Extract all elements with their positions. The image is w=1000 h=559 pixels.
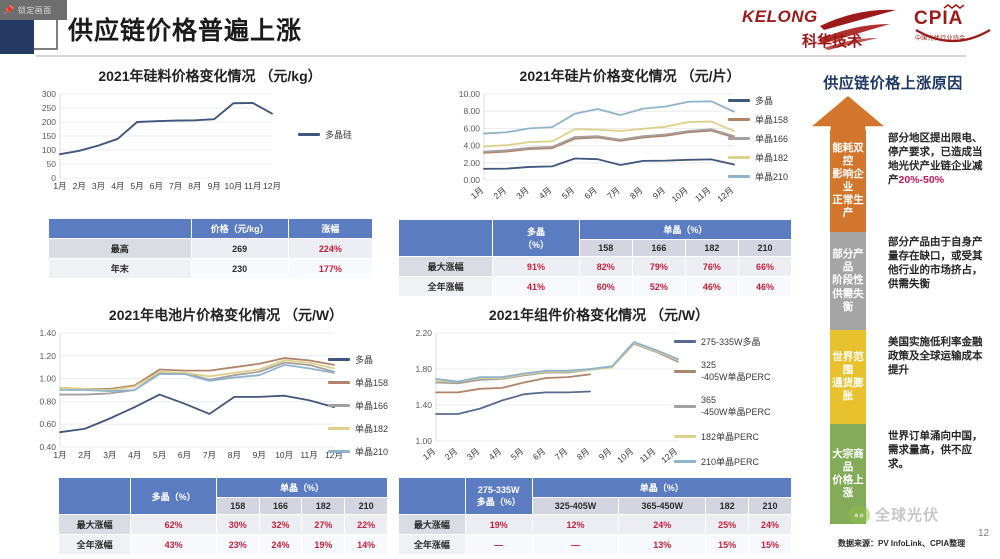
svg-text:1月: 1月: [53, 181, 66, 191]
svg-text:11月: 11月: [300, 450, 317, 460]
svg-text:200: 200: [42, 117, 56, 127]
table-row: 最高 269 224%: [49, 239, 373, 259]
legend-label: 单晶158: [355, 376, 388, 389]
row-price: 269: [191, 239, 288, 259]
sidebar-segment-3[interactable]: 世界范围通货膨胀: [830, 330, 866, 424]
legend-label: 210单晶PERC: [701, 455, 759, 468]
row-mono-158: 23%: [216, 535, 259, 555]
sidebar-description-text: 部分产品由于自身产量存在缺口，或受其他行业的市场挤占，供需失衡: [888, 236, 983, 290]
sidebar-description-text: 美国实施低利率金融政策及全球运输成本提升: [888, 336, 983, 376]
svg-text:2月: 2月: [491, 185, 508, 201]
row-mono-166: 24%: [259, 535, 302, 555]
table-row: 全年涨幅 41% 60% 52% 46% 46%: [399, 277, 792, 297]
legend-swatch: [298, 133, 320, 136]
legend-item: 182单晶PERC: [674, 430, 796, 443]
svg-text:10.00: 10.00: [459, 89, 481, 99]
page-number: 12: [978, 528, 989, 539]
row-label: 全年涨幅: [59, 535, 131, 555]
svg-text:4月: 4月: [128, 450, 141, 460]
chart-cell-legend: 多晶单晶158单晶166单晶182单晶210: [328, 353, 388, 468]
legend-label: 275-335W多晶: [701, 335, 761, 348]
table-row: 275-335W 多晶（%） 单晶（%）: [399, 478, 792, 498]
cpia-logo-en: CPIA: [914, 8, 963, 30]
svg-text:9月: 9月: [651, 185, 668, 201]
svg-text:10月: 10月: [615, 446, 635, 465]
svg-text:10月: 10月: [670, 185, 690, 204]
legend-label: 单晶166: [755, 132, 788, 145]
table-silicon-material-grid: 价格（元/kg） 涨幅 最高 269 224% 年末 230 177%: [48, 218, 373, 279]
chart-silicon-material-legend: 多晶硅: [298, 128, 352, 147]
legend-swatch: [728, 156, 750, 159]
kelong-logo: KELONG 科华技术: [740, 4, 900, 52]
svg-text:1月: 1月: [469, 185, 486, 201]
sidebar-segment-label: 世界范围通货膨胀: [830, 351, 866, 404]
svg-text:7月: 7月: [203, 450, 216, 460]
chart-wafer-legend: 多晶单晶158单晶166单晶182单晶210: [728, 94, 788, 189]
legend-item: 单晶158: [728, 113, 788, 126]
col-mono-group: 单晶（%）: [532, 478, 791, 498]
svg-text:11月: 11月: [244, 181, 261, 191]
svg-text:4.00: 4.00: [463, 141, 480, 151]
svg-text:4月: 4月: [487, 446, 504, 462]
legend-item: 210单晶PERC: [674, 455, 796, 468]
pin-icon: 📌: [3, 5, 15, 16]
legend-label: 单晶182: [755, 151, 788, 164]
svg-text:1.00: 1.00: [415, 436, 432, 446]
legend-swatch: [674, 405, 696, 408]
watermark: ●● 全球光伏: [848, 504, 939, 525]
legend-swatch: [674, 340, 696, 343]
svg-text:3月: 3月: [465, 446, 482, 462]
chart-wafer-title: 2021年硅片价格变化情况 （元/片）: [450, 66, 800, 86]
row-label: 最大涨幅: [399, 257, 493, 277]
table-row: 最大涨幅 91% 82% 79% 76% 66%: [399, 257, 792, 277]
col-mono-158: 158: [579, 240, 632, 257]
svg-text:0.80: 0.80: [39, 396, 56, 406]
table-row: 价格（元/kg） 涨幅: [49, 219, 373, 239]
svg-text:6月: 6月: [150, 181, 163, 191]
col-mono-182: 182: [706, 498, 749, 515]
lock-screen-badge-label: 锁定画面: [18, 5, 52, 16]
row-price: 230: [191, 259, 288, 279]
lock-screen-badge[interactable]: 📌 锁定画面: [0, 0, 67, 20]
sidebar-description-highlight: 20%-50%: [899, 174, 945, 186]
table-row: 最大涨幅 19% 12% 24% 25% 24%: [399, 515, 792, 535]
row-mono-325-405w: —: [532, 535, 619, 555]
svg-text:2.20: 2.20: [415, 328, 432, 338]
row-mono-210: 15%: [749, 535, 792, 555]
col-empty: [399, 478, 466, 515]
legend-swatch: [728, 99, 750, 102]
chart-cell: 2021年电池片价格变化情况 （元/W） 0.400.600.801.001.2…: [28, 305, 418, 470]
svg-text:7月: 7月: [605, 185, 622, 201]
table-cell-grid: 多晶（%） 单晶（%） 158 166 182 210 最大涨幅 62% 30%…: [58, 477, 388, 555]
col-mono-210: 210: [749, 498, 792, 515]
svg-text:250: 250: [42, 103, 56, 113]
row-mono-182: 27%: [302, 515, 345, 535]
svg-text:2.00: 2.00: [463, 158, 480, 168]
legend-label: 182单晶PERC: [701, 430, 759, 443]
svg-text:1月: 1月: [53, 450, 66, 460]
row-mono-210: 22%: [345, 515, 388, 535]
svg-text:12月: 12月: [263, 181, 281, 191]
row-poly: 62%: [131, 515, 217, 535]
col-price: 价格（元/kg）: [191, 219, 288, 239]
table-row: 全年涨幅 43% 23% 24% 19% 14%: [59, 535, 388, 555]
source-note: 数据来源：PV InfoLink、CPIA整理: [838, 538, 965, 549]
legend-swatch: [328, 404, 350, 407]
svg-text:3月: 3月: [514, 185, 531, 201]
table-row: 最大涨幅 62% 30% 32% 27% 22%: [59, 515, 388, 535]
legend-swatch: [328, 358, 350, 361]
svg-text:7月: 7月: [169, 181, 182, 191]
table-module-grid: 275-335W 多晶（%） 单晶（%） 325-405W 365-450W 1…: [398, 477, 792, 555]
wechat-icon: ●●: [848, 506, 870, 524]
row-label: 最高: [49, 239, 192, 259]
header-divider: [36, 55, 966, 57]
svg-text:8月: 8月: [628, 185, 645, 201]
svg-text:100: 100: [42, 145, 56, 155]
svg-text:11月: 11月: [693, 185, 713, 204]
row-label: 全年涨幅: [399, 535, 466, 555]
svg-text:6.00: 6.00: [463, 123, 480, 133]
row-mono-182: 25%: [706, 515, 749, 535]
svg-text:8.00: 8.00: [463, 106, 480, 116]
svg-text:8月: 8月: [228, 450, 241, 460]
row-poly: 43%: [131, 535, 217, 555]
legend-item: 275-335W多晶: [674, 335, 796, 348]
chart-cell-plot: 0.400.600.801.001.201.401月2月3月4月5月6月7月8月…: [28, 327, 358, 467]
legend-item: 单晶182: [328, 422, 388, 435]
legend-item: 单晶166: [328, 399, 388, 412]
svg-text:5月: 5月: [153, 450, 166, 460]
col-mono-210: 210: [345, 498, 388, 515]
svg-text:5月: 5月: [560, 185, 577, 201]
svg-text:9月: 9月: [208, 181, 221, 191]
row-label: 最大涨幅: [399, 515, 466, 535]
row-mono-158: 30%: [216, 515, 259, 535]
row-poly: 41%: [493, 277, 579, 297]
col-empty: [59, 478, 131, 515]
chart-cell-title: 2021年电池片价格变化情况 （元/W）: [28, 305, 418, 325]
legend-item: 多晶硅: [298, 128, 352, 141]
col-mono-325-405w: 325-405W: [532, 498, 619, 515]
svg-text:10月: 10月: [275, 450, 293, 460]
svg-text:5月: 5月: [130, 181, 143, 191]
chart-module-title: 2021年组件价格变化情况 （元/W）: [404, 305, 794, 325]
row-mono-210: 14%: [345, 535, 388, 555]
col-mono-365-450w: 365-450W: [619, 498, 706, 515]
col-poly: 多晶 （%）: [493, 220, 579, 257]
svg-text:300: 300: [42, 89, 56, 99]
col-mono-210: 210: [738, 240, 791, 257]
col-poly: 275-335W 多晶（%）: [465, 478, 532, 515]
col-poly-label: 275-335W: [468, 485, 530, 495]
slide-header: 供应链价格普遍上涨 KELONG 科华技术 CPIA 中国光伏行业协会: [0, 0, 1000, 55]
sidebar-description-3: 美国实施低利率金融政策及全球运输成本提升: [888, 336, 992, 378]
svg-text:9月: 9月: [253, 450, 266, 460]
page-title: 供应链价格普遍上涨: [68, 11, 302, 47]
chart-module-plot: 1.001.401.802.201月2月3月4月5月6月7月8月9月10月11月…: [404, 327, 694, 467]
table-row: 多晶 （%） 单晶（%）: [399, 220, 792, 240]
legend-item: 365-450W单晶PERC: [674, 395, 796, 418]
row-mono-365-450w: 24%: [619, 515, 706, 535]
svg-text:5月: 5月: [509, 446, 526, 462]
svg-text:6月: 6月: [178, 450, 191, 460]
legend-label: 单晶182: [355, 422, 388, 435]
row-mono-182: 15%: [706, 535, 749, 555]
col-poly-unit: （%）: [495, 238, 576, 251]
sidebar-segment-2[interactable]: 部分产品阶段性供需失衡: [830, 232, 866, 330]
row-mono-182: 76%: [685, 257, 738, 277]
svg-text:3月: 3月: [92, 181, 105, 191]
svg-text:9月: 9月: [597, 446, 614, 462]
chart-wafer: 2021年硅片价格变化情况 （元/片） 0.002.004.006.008.00…: [450, 66, 800, 206]
svg-text:1月: 1月: [421, 446, 438, 462]
legend-swatch: [728, 118, 750, 121]
row-rise: 224%: [288, 239, 372, 259]
row-mono-158: 60%: [579, 277, 632, 297]
legend-swatch: [674, 460, 696, 463]
svg-text:1.40: 1.40: [415, 400, 432, 410]
sidebar-description-1: 部分地区提出限电、停产要求，已造成当地光伏产业链企业减产20%-50%: [888, 132, 992, 187]
legend-swatch: [728, 137, 750, 140]
legend-swatch: [328, 381, 350, 384]
row-poly: 19%: [465, 515, 532, 535]
cpia-logo-cn: 中国光伏行业协会: [915, 33, 965, 42]
legend-item: 单晶166: [728, 132, 788, 145]
legend-label: 多晶: [755, 94, 773, 107]
table-silicon-material: 价格（元/kg） 涨幅 最高 269 224% 年末 230 177%: [48, 218, 373, 279]
svg-text:2月: 2月: [78, 450, 91, 460]
sidebar-description-4: 世界订单涌向中国，需求量高，供不应求。: [888, 430, 992, 472]
legend-label: 单晶158: [755, 113, 788, 126]
row-mono-365-450w: 13%: [619, 535, 706, 555]
col-mono-group: 单晶（%）: [216, 478, 387, 498]
legend-item: 单晶182: [728, 151, 788, 164]
row-mono-325-405w: 12%: [532, 515, 619, 535]
watermark-text: 全球光伏: [875, 504, 939, 525]
svg-text:4月: 4月: [537, 185, 554, 201]
sidebar-segment-label: 部分产品阶段性供需失衡: [830, 248, 866, 314]
sidebar-description-2: 部分产品由于自身产量存在缺口，或受其他行业的市场挤占，供需失衡: [888, 236, 992, 291]
col-poly-unit: 多晶（%）: [468, 495, 530, 508]
cpia-logo: CPIA 中国光伏行业协会: [910, 4, 996, 52]
sidebar-segment-1[interactable]: 能耗双控影响企业正常生产: [830, 130, 866, 232]
legend-item: 单晶158: [328, 376, 388, 389]
row-mono-166: 79%: [632, 257, 685, 277]
legend-label: 单晶210: [355, 445, 388, 458]
legend-label: 多晶: [355, 353, 373, 366]
legend-swatch: [328, 450, 350, 453]
col-rise: 涨幅: [288, 219, 372, 239]
row-mono-210: 24%: [749, 515, 792, 535]
row-mono-182: 19%: [302, 535, 345, 555]
row-mono-158: 82%: [579, 257, 632, 277]
kelong-logo-cn: 科华技术: [802, 30, 862, 51]
row-mono-166: 52%: [632, 277, 685, 297]
svg-text:0.00: 0.00: [463, 175, 480, 185]
slide-root: 📌 锁定画面 供应链价格普遍上涨 KELONG 科华技术 CPIA 中国光伏行业…: [0, 0, 1000, 559]
legend-swatch: [728, 175, 750, 178]
row-mono-210: 46%: [738, 277, 791, 297]
svg-text:6月: 6月: [582, 185, 599, 201]
table-row: 全年涨幅 — — 13% 15% 15%: [399, 535, 792, 555]
sidebar-description-text: 世界订单涌向中国，需求量高，供不应求。: [888, 430, 983, 470]
svg-text:8月: 8月: [188, 181, 201, 191]
svg-text:2月: 2月: [73, 181, 86, 191]
col-mono-group: 单晶（%）: [579, 220, 791, 240]
row-label: 年末: [49, 259, 192, 279]
col-empty: [49, 219, 192, 239]
table-row: 年末 230 177%: [49, 259, 373, 279]
legend-item: 单晶210: [328, 445, 388, 458]
table-module: 275-335W 多晶（%） 单晶（%） 325-405W 365-450W 1…: [398, 477, 792, 555]
legend-label: 单晶210: [755, 170, 788, 183]
svg-text:1.00: 1.00: [39, 374, 56, 384]
chart-module-legend: 275-335W多晶325-405W单晶PERC365-450W单晶PERC18…: [674, 335, 796, 480]
svg-text:7月: 7月: [553, 446, 570, 462]
row-poly: 91%: [493, 257, 579, 277]
svg-text:10月: 10月: [224, 181, 242, 191]
legend-item: 多晶: [328, 353, 388, 366]
col-empty: [399, 220, 493, 257]
sidebar-segment-label: 能耗双控影响企业正常生产: [830, 142, 866, 221]
sidebar-segment-label: 大宗商品价格上涨: [830, 448, 866, 501]
table-row: 多晶（%） 单晶（%）: [59, 478, 388, 498]
svg-text:6月: 6月: [531, 446, 548, 462]
legend-item: 单晶210: [728, 170, 788, 183]
chart-silicon-material: 2021年硅料价格变化情况 （元/kg） 0501001502002503001…: [30, 66, 390, 196]
svg-text:2月: 2月: [443, 446, 460, 462]
legend-swatch: [674, 435, 696, 438]
legend-label: 365-450W单晶PERC: [701, 395, 771, 418]
svg-text:0.60: 0.60: [39, 419, 56, 429]
legend-item: 多晶: [728, 94, 788, 107]
row-poly: —: [465, 535, 532, 555]
svg-text:150: 150: [42, 131, 56, 141]
table-wafer-grid: 多晶 （%） 单晶（%） 158 166 182 210 最大涨幅 91% 82…: [398, 219, 792, 297]
legend-label: 多晶硅: [325, 128, 352, 141]
legend-swatch: [328, 427, 350, 430]
table-wafer: 多晶 （%） 单晶（%） 158 166 182 210 最大涨幅 91% 82…: [398, 219, 792, 297]
legend-label: 单晶166: [355, 399, 388, 412]
svg-text:50: 50: [47, 159, 57, 169]
row-label: 最大涨幅: [59, 515, 131, 535]
row-mono-182: 46%: [685, 277, 738, 297]
row-label: 全年涨幅: [399, 277, 493, 297]
col-mono-166: 166: [259, 498, 302, 515]
sidebar-title: 供应链价格上涨原因: [790, 72, 996, 93]
svg-text:1.40: 1.40: [39, 328, 56, 338]
chart-wafer-plot: 0.002.004.006.008.0010.001月2月3月4月5月6月7月8…: [450, 88, 750, 206]
svg-text:11月: 11月: [638, 446, 658, 465]
legend-item: 325-405W单晶PERC: [674, 360, 796, 383]
svg-text:1.20: 1.20: [39, 351, 56, 361]
legend-swatch: [674, 370, 696, 373]
col-mono-182: 182: [302, 498, 345, 515]
svg-text:1.80: 1.80: [415, 364, 432, 374]
svg-text:4月: 4月: [111, 181, 124, 191]
svg-text:8月: 8月: [575, 446, 592, 462]
col-poly-label: 多晶: [495, 225, 576, 238]
legend-label: 325-405W单晶PERC: [701, 360, 771, 383]
col-mono-166: 166: [632, 240, 685, 257]
chart-silicon-material-title: 2021年硅料价格变化情况 （元/kg）: [30, 66, 390, 86]
row-mono-166: 32%: [259, 515, 302, 535]
kelong-logo-en: KELONG: [742, 7, 818, 27]
col-poly: 多晶（%）: [131, 478, 217, 515]
svg-text:3月: 3月: [103, 450, 116, 460]
chart-module: 2021年组件价格变化情况 （元/W） 1.001.401.802.201月2月…: [404, 305, 794, 470]
col-mono-158: 158: [216, 498, 259, 515]
col-mono-182: 182: [685, 240, 738, 257]
row-rise: 177%: [288, 259, 372, 279]
row-mono-210: 66%: [738, 257, 791, 277]
table-cell: 多晶（%） 单晶（%） 158 166 182 210 最大涨幅 62% 30%…: [58, 477, 388, 555]
